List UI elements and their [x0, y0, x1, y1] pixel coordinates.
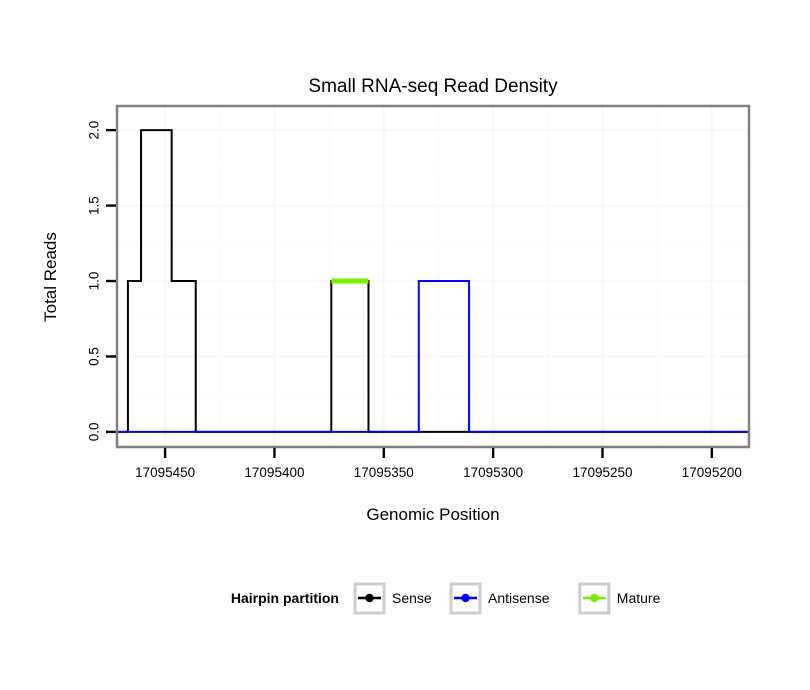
y-tick-label: 0.5 — [87, 347, 102, 366]
y-tick-label: 2.0 — [87, 121, 102, 140]
legend-entry-label: Mature — [617, 590, 661, 606]
x-tick-label: 17095400 — [244, 465, 304, 480]
x-tick-label: 17095350 — [354, 465, 414, 480]
chart-figure: Small RNA-seq Read Density Genomic Posit… — [0, 0, 810, 690]
y-axis-title: Total Reads — [41, 232, 60, 322]
x-tick-label: 17095250 — [572, 465, 632, 480]
legend-title: Hairpin partition — [231, 590, 339, 606]
legend-key-point — [461, 594, 469, 602]
legend-entry-label: Antisense — [488, 590, 550, 606]
y-tick-label: 1.0 — [87, 272, 102, 291]
y-tick-label: 1.5 — [87, 196, 102, 215]
y-tick-label: 0.0 — [87, 423, 102, 442]
read-density-chart: Small RNA-seq Read Density Genomic Posit… — [0, 0, 810, 690]
x-tick-label: 17095200 — [682, 465, 742, 480]
x-axis-title: Genomic Position — [366, 505, 499, 524]
x-tick-label: 17095450 — [135, 465, 195, 480]
legend-entry-label: Sense — [392, 590, 432, 606]
legend-key-point — [590, 594, 598, 602]
x-tick-label: 17095300 — [463, 465, 523, 480]
legend-key-point — [365, 594, 373, 602]
chart-title: Small RNA-seq Read Density — [308, 76, 558, 97]
grid-lines — [117, 106, 749, 447]
